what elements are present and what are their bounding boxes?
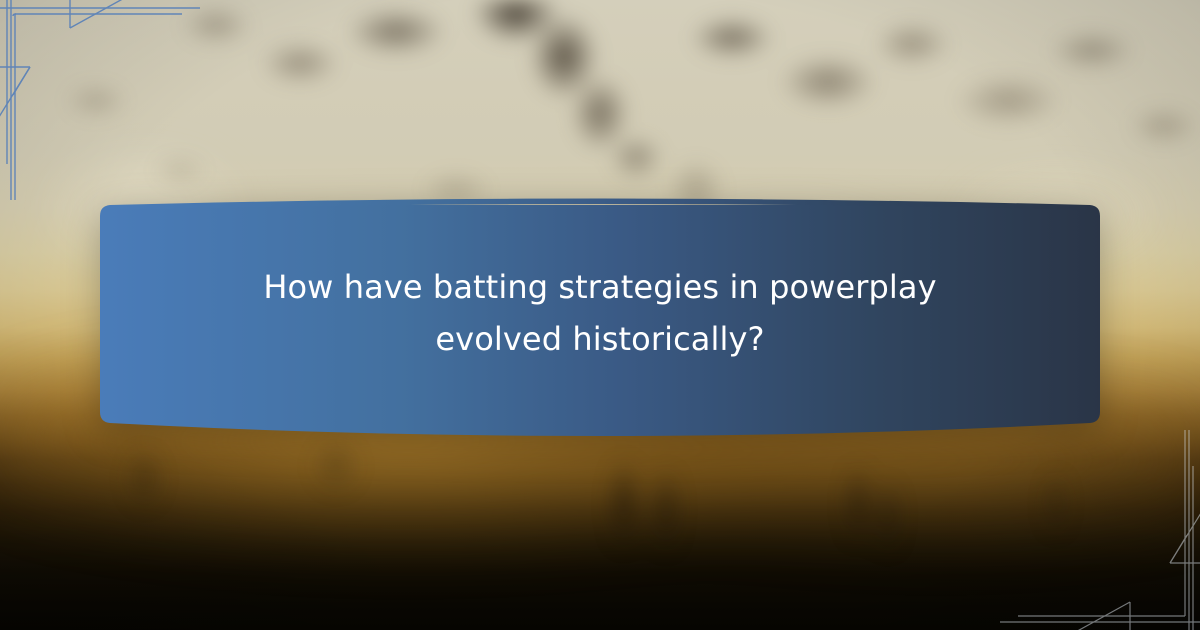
question-card: How have batting strategies in powerplay… <box>96 190 1104 438</box>
corner-line-art-top-left <box>0 0 230 200</box>
question-card-body: How have batting strategies in powerplay… <box>96 190 1104 438</box>
question-text: How have batting strategies in powerplay… <box>240 262 960 366</box>
corner-line-art-bottom-right <box>970 430 1200 630</box>
screenshot-canvas: How have batting strategies in powerplay… <box>0 0 1200 630</box>
